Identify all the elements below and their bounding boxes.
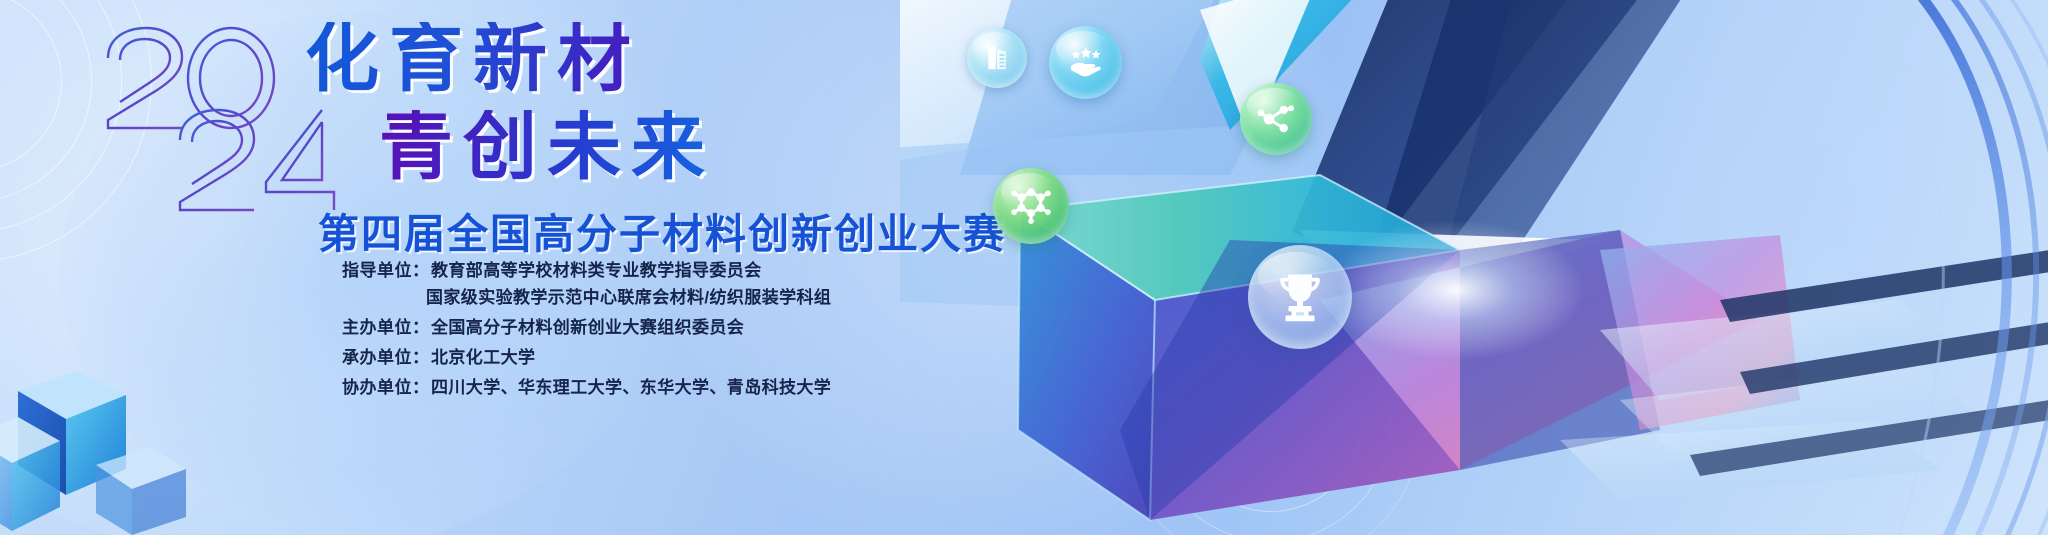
benzene-badge [993,168,1069,244]
headline-line-1: 化育新材 [305,22,715,96]
organizer-row-organizer: 承办单位 ： 北京化工大学 [306,343,1066,368]
decor-ring-left-1 [0,0,62,172]
organizer-value: 国家级实验教学示范中心联席会材料/纺织服装学科组 [424,283,831,308]
organizer-value: 北京化工大学 [429,343,535,368]
rating-badge [1049,26,1122,99]
trophy-badge [1248,245,1352,349]
organizer-value: 四川大学、华东理工大学、东华大学、青岛科技大学 [429,373,831,398]
edge-arc-decoration [1528,0,2048,535]
organizer-list: 指导单位 ： 教育部高等学校材料类专业教学指导委员会 国家级实验教学示范中心联席… [306,256,1066,403]
molecule-node-icon [1255,98,1297,140]
headline-line-2: 青创未来 [379,110,715,184]
organizer-label: 主办单位 [306,313,412,338]
organizer-value: 教育部高等学校材料类专业教学指导委员会 [429,256,762,281]
organizer-colon: ： [412,313,429,338]
decor-ring-left-2 [0,0,92,202]
organizer-label: 承办单位 [306,343,412,368]
organizer-colon: ： [412,373,429,398]
headline: 化育新材 青创未来 [305,22,715,184]
molecule-badge [1240,83,1312,155]
organizer-label: 指导单位 [306,256,412,281]
organizer-row-host: 主办单位 ： 全国高分子材料创新创业大赛组织委员会 [306,313,1066,338]
bottom-left-cubes [0,345,300,535]
organizer-value: 全国高分子材料创新创业大赛组织委员会 [429,313,744,338]
organizer-label: 协办单位 [306,373,412,398]
organizer-row-coorganizer: 协办单位 ： 四川大学、华东理工大学、东华大学、青岛科技大学 [306,373,1066,398]
organizer-colon: ： [412,256,429,281]
trophy-icon [1270,267,1330,327]
organizer-colon: ： [412,343,429,368]
decor-ring-bottom-1 [1180,330,1362,512]
competition-name: 第四届全国高分子材料创新创业大赛 [318,200,1006,260]
document-building-icon [982,43,1012,73]
documents-badge [967,28,1027,88]
background-glow-right [1468,0,2048,535]
benzene-ring-icon [1008,183,1054,229]
hand-stars-icon [1066,43,1106,83]
organizer-row-guidance: 指导单位 ： 教育部高等学校材料类专业教学指导委员会 [306,256,1066,281]
event-banner: 化育新材 青创未来 第四届全国高分子材料创新创业大赛 指导单位 ： 教育部高等学… [0,0,2048,535]
organizer-row-guidance-2: 国家级实验教学示范中心联席会材料/纺织服装学科组 [306,283,1066,308]
